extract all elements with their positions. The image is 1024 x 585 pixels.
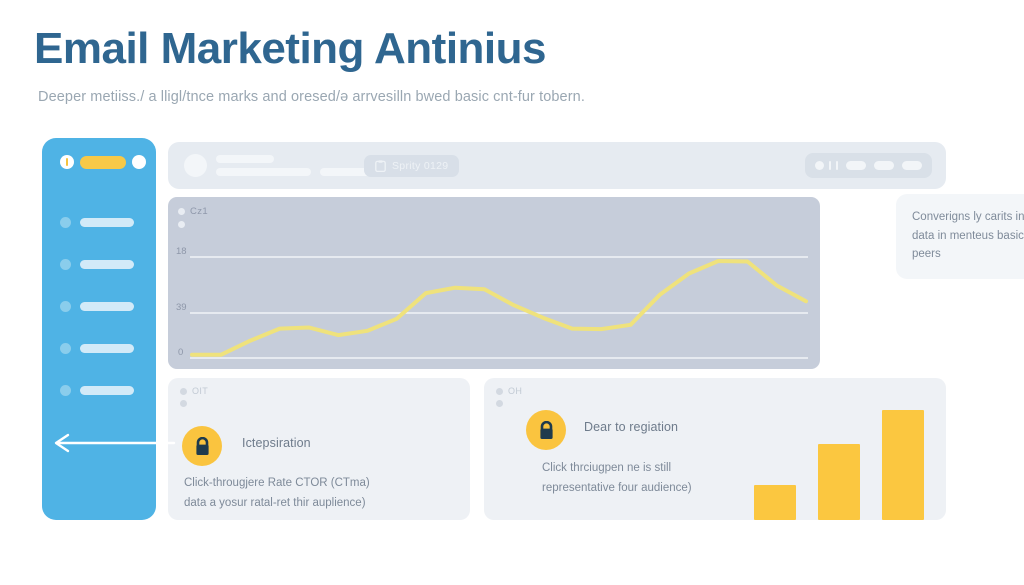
avatar[interactable]	[184, 154, 207, 177]
control-pill-2[interactable]	[874, 161, 894, 170]
sidebar-item-3-bullet-icon	[60, 301, 71, 312]
control-pill-3[interactable]	[902, 161, 922, 170]
app-mockup: Sprity 0129 Cz1	[42, 138, 946, 520]
control-pill-1[interactable]	[846, 161, 866, 170]
card-left-body-line-1: Click-througjere Rate CTOR (CTma)	[184, 473, 370, 493]
card-left-dot-1-icon	[180, 388, 187, 395]
line-chart-panel: Cz1 18 39 0	[168, 197, 820, 369]
sidebar-item-2[interactable]	[60, 258, 140, 270]
lock-icon	[538, 421, 555, 440]
page-subtitle: Deeper metiiss./ a lligl/tnce marks and …	[38, 89, 934, 105]
topbar-controls[interactable]	[805, 153, 932, 178]
card-right-dot-1-icon	[496, 388, 503, 395]
card-right-body-line-1: Click thrciugpen ne is still	[542, 458, 692, 478]
page-title: Email Marketing Antinius	[34, 24, 934, 75]
bar-3	[882, 410, 924, 520]
logo-left-dot-icon	[60, 155, 74, 169]
card-right-dot-label: OH	[508, 386, 522, 396]
chart-callout-text: Converigns ly carits in open data in men…	[912, 208, 1024, 264]
card-right-badge[interactable]	[526, 410, 566, 450]
bar-2	[818, 444, 860, 520]
logo-right-dot-icon	[132, 155, 146, 169]
card-right-body-line-2: representative four audience)	[542, 478, 692, 498]
control-tick-2-icon	[836, 161, 838, 170]
sidebar-item-5-label	[80, 386, 134, 395]
card-right-dot-2-icon	[496, 400, 503, 407]
topbar-line-1	[216, 155, 274, 163]
sidebar-item-5[interactable]	[60, 384, 140, 396]
card-right-dots: OH	[496, 386, 522, 411]
card-left-badge[interactable]	[182, 426, 222, 466]
page-header: Email Marketing Antinius Deeper metiiss.…	[34, 24, 934, 105]
sidebar-logo[interactable]	[60, 155, 146, 169]
topbar-chip-label: Sprity 0129	[392, 160, 448, 172]
sidebar-item-3[interactable]	[60, 300, 140, 312]
topbar-placeholder-text	[216, 155, 311, 181]
topbar-chip[interactable]: Sprity 0129	[364, 155, 459, 177]
ytick-label-bottom: 0	[178, 347, 183, 358]
sidebar-item-3-label	[80, 302, 134, 311]
sidebar-item-5-bullet-icon	[60, 385, 71, 396]
card-left-dots: OIT	[180, 386, 208, 411]
metric-card-left[interactable]: OIT Ictepsiration Click-througjere Rate …	[168, 378, 470, 520]
control-tick-1-icon	[829, 161, 831, 170]
card-right-bar-chart	[754, 410, 924, 520]
card-right-body: Click thrciugpen ne is still representat…	[542, 458, 692, 498]
ytick-label-top: 18	[176, 246, 187, 257]
sidebar-item-4-label	[80, 344, 134, 353]
logo-brand-pill	[80, 156, 126, 169]
chart-callout-tooltip: Converigns ly carits in open data in men…	[896, 194, 1024, 279]
card-left-body-line-2: data a yosur ratal-ret thir auplience)	[184, 493, 370, 513]
clipboard-icon	[375, 160, 386, 172]
chart-series-line	[192, 261, 806, 355]
lock-icon	[194, 437, 211, 456]
topbar-line-2	[216, 168, 311, 176]
sidebar-item-2-bullet-icon	[60, 259, 71, 270]
card-left-body: Click-througjere Rate CTOR (CTma) data a…	[184, 473, 370, 513]
bar-1	[754, 485, 796, 520]
sidebar-item-1-bullet-icon	[60, 217, 71, 228]
card-left-heading: Ictepsiration	[242, 436, 311, 450]
card-left-dot-label: OIT	[192, 386, 208, 396]
app-main-area: Sprity 0129 Cz1	[168, 138, 946, 520]
sidebar-item-2-label	[80, 260, 134, 269]
sidebar-item-1[interactable]	[60, 216, 140, 228]
sidebar-item-4[interactable]	[60, 342, 140, 354]
sidebar	[42, 138, 156, 520]
app-topbar: Sprity 0129	[168, 142, 946, 189]
line-chart-svg: 18 39 0	[168, 197, 820, 369]
sidebar-item-1-label	[80, 218, 134, 227]
control-dot-icon	[815, 161, 824, 170]
sidebar-nav	[60, 216, 140, 426]
ytick-label-mid: 39	[176, 302, 187, 313]
metric-card-right[interactable]: OH Dear to regiation Click thrciugpen ne…	[484, 378, 946, 520]
sidebar-item-4-bullet-icon	[60, 343, 71, 354]
card-right-heading: Dear to regiation	[584, 420, 678, 434]
card-left-dot-2-icon	[180, 400, 187, 407]
